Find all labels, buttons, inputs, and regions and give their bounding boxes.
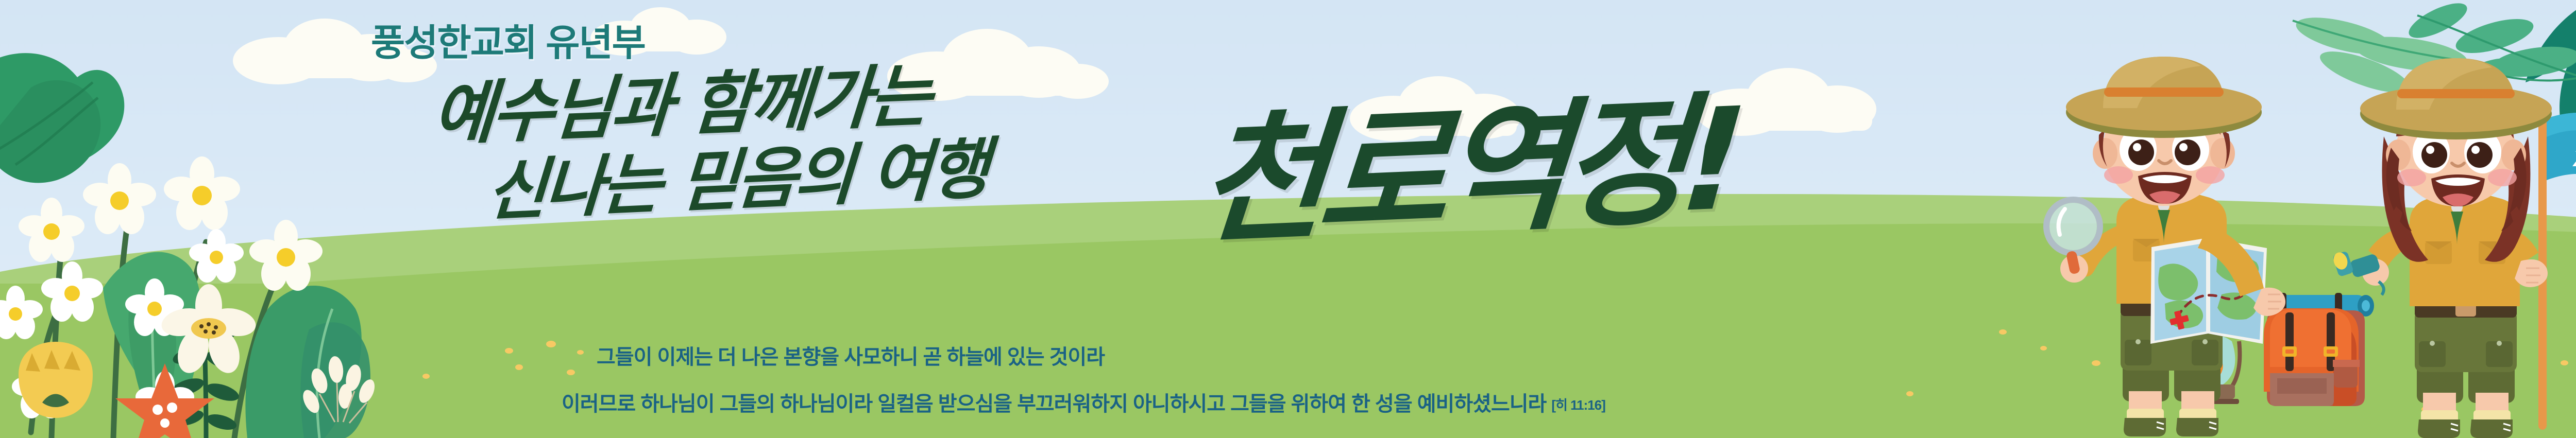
scripture-line-two: 이러므로 하나님이 그들의 하나님이라 일컬음 받으심을 부끄러워하지 아니하시… xyxy=(562,387,1605,417)
calligraphy-main-headline: 천로역정! xyxy=(1193,45,1747,271)
bucket-hat-boy xyxy=(2066,57,2262,138)
scripture-reference: [히 11:16] xyxy=(1551,397,1605,413)
girl-legs xyxy=(2415,300,2517,438)
bucket-hat-girl xyxy=(2360,58,2552,139)
church-vbs-banner: 풍성한교회 유년부 예수님과 함께가는 신나는 믿음의 여행 천로역정! 그들이… xyxy=(0,0,2576,438)
girl-scout-character xyxy=(2347,28,2576,438)
yellow-bloom xyxy=(19,342,93,418)
boy-head xyxy=(2066,57,2262,206)
orange-star-flower xyxy=(115,363,214,438)
boy-scout-character xyxy=(2056,31,2344,437)
scripture-line-two-text: 이러므로 하나님이 그들의 하나님이라 일컬음 받으심을 부끄러워하지 아니하시… xyxy=(562,393,1546,415)
left-floral-cluster xyxy=(0,0,392,438)
headline-text-block: 풍성한교회 유년부 예수님과 함께가는 신나는 믿음의 여행 천로역정! xyxy=(371,5,2071,437)
scripture-line-one: 그들이 이제는 더 나은 본향을 사모하니 곧 하늘에 있는 것이라 xyxy=(597,340,1105,370)
